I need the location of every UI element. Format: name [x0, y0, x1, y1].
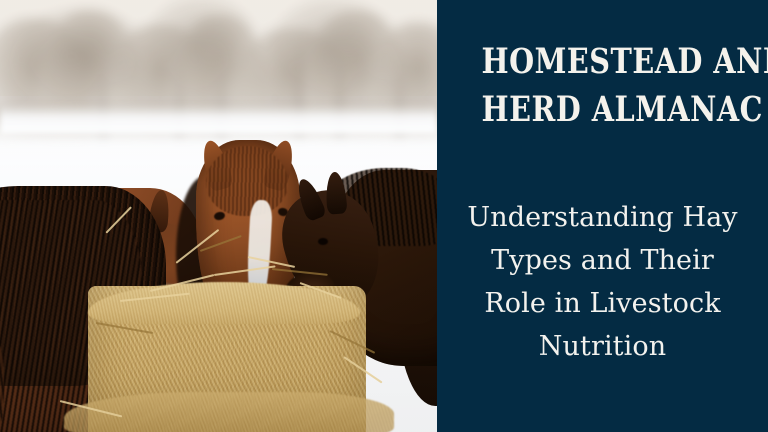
page-title: HOMESTEAD AND HERD ALMANAC: [482, 38, 724, 134]
title-panel: HOMESTEAD AND HERD ALMANAC Understanding…: [437, 0, 768, 432]
chestnut-horse-forelock: [206, 146, 288, 216]
subtitle-line-1: Understanding Hay: [455, 196, 750, 239]
article-header-banner: HOMESTEAD AND HERD ALMANAC Understanding…: [0, 0, 768, 432]
subtitle-line-4: Nutrition: [455, 325, 750, 368]
dark-horse-right-eye: [318, 238, 328, 245]
title-line-1: HOMESTEAD AND: [482, 38, 724, 86]
title-block: HOMESTEAD AND HERD ALMANAC: [455, 38, 750, 134]
subtitle-line-2: Types and Their: [455, 239, 750, 282]
scattered-hay: [64, 392, 394, 432]
subtitle-block: Understanding Hay Types and Their Role i…: [455, 196, 750, 368]
subtitle-line-3: Role in Livestock: [455, 282, 750, 325]
page-subtitle: Understanding Hay Types and Their Role i…: [455, 196, 750, 368]
horses-eating-hay-photo: [0, 0, 437, 432]
snow-horizon: [0, 104, 437, 134]
title-line-2: HERD ALMANAC: [482, 86, 724, 134]
